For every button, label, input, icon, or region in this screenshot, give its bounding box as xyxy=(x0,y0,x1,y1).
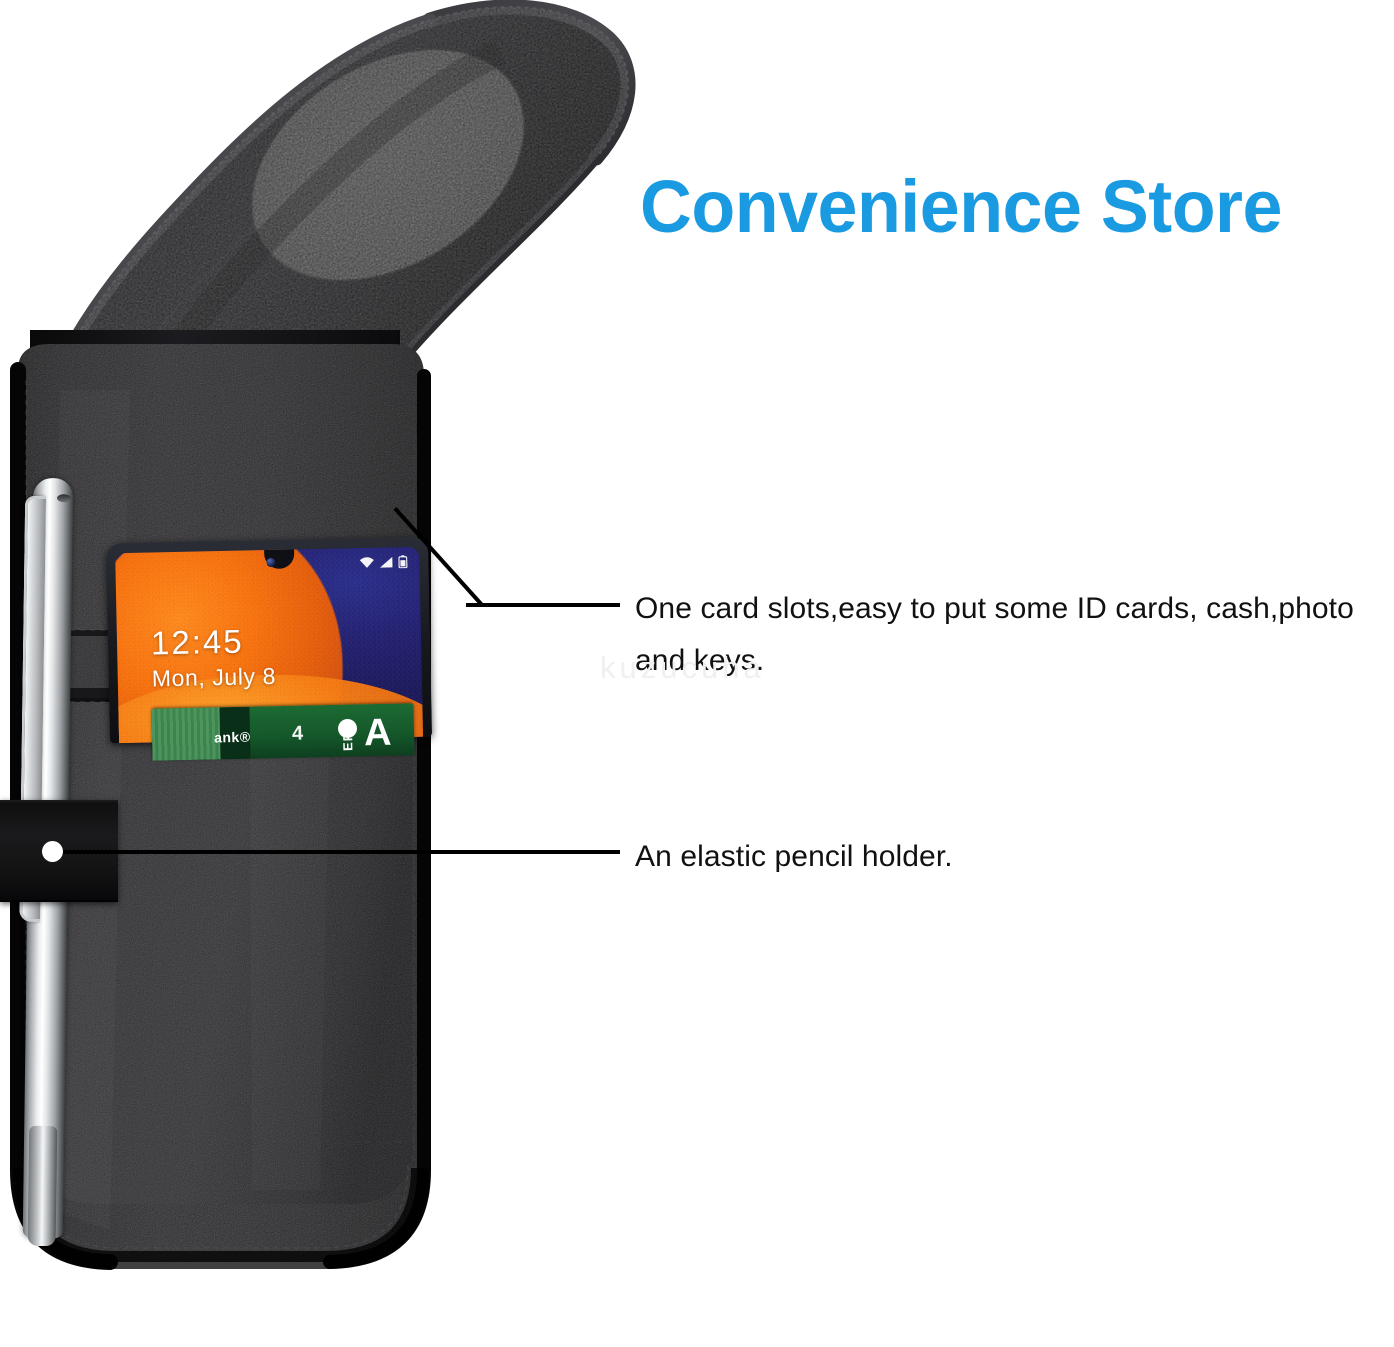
leader-line-card-slot-horizontal xyxy=(466,603,620,607)
battery-icon xyxy=(398,555,407,568)
wifi-icon xyxy=(359,556,374,568)
pen-top-hole xyxy=(57,494,71,502)
lock-screen-date: Mon, July 8 xyxy=(152,663,277,693)
lock-screen-clock: 12:45 xyxy=(151,623,244,663)
card-letter: A xyxy=(364,712,393,756)
status-bar xyxy=(359,555,407,569)
card-bank-label: ank® xyxy=(214,729,251,746)
page-title: Convenience Store xyxy=(640,170,1369,244)
leader-endpoint-pencil-holder xyxy=(42,841,63,862)
pen-tip xyxy=(28,1126,58,1246)
signal-icon xyxy=(379,556,393,568)
product-feature-image: 12:45 Mon, July 8 ank® 4 EPT A Convenien… xyxy=(0,0,1394,1347)
callout-pencil-holder: An elastic pencil holder. xyxy=(635,831,1385,883)
bank-card: ank® 4 EPT A xyxy=(151,703,414,760)
leader-line-pencil-holder xyxy=(52,850,620,854)
card-number-fragment: 4 xyxy=(292,723,304,746)
leader-endpoint-card-slot xyxy=(338,719,357,738)
watermark: kuzucuha xyxy=(600,650,765,686)
